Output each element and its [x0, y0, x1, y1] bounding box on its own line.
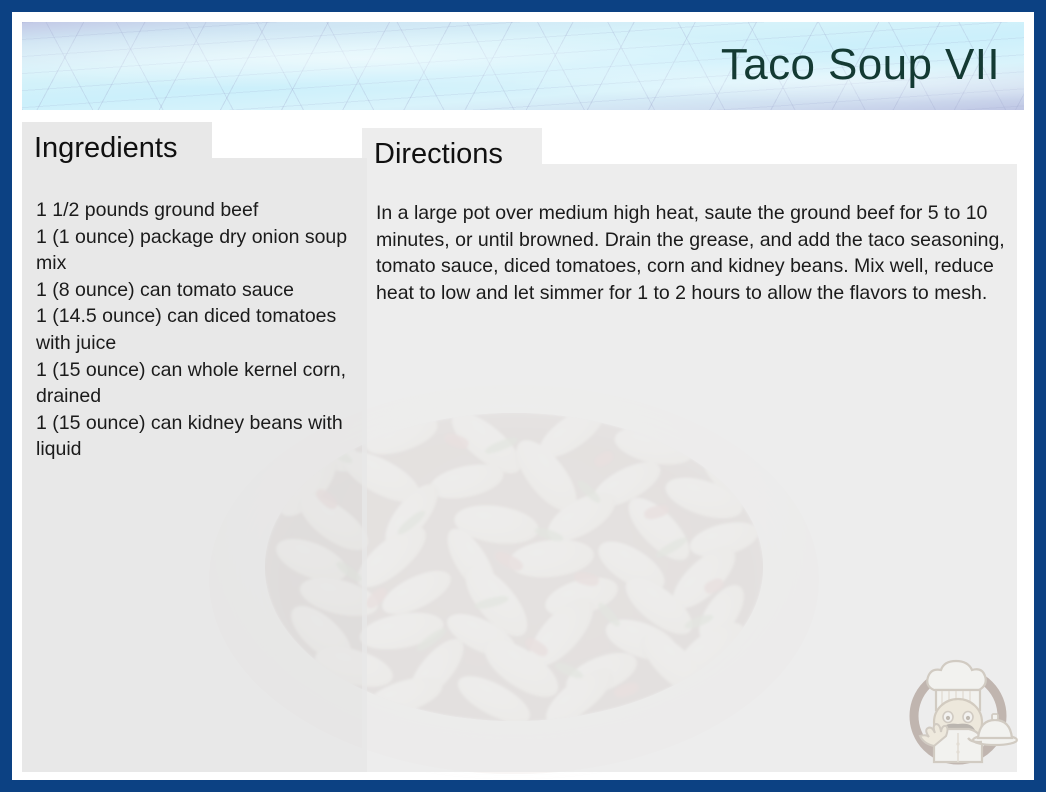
- list-item: 1 1/2 pounds ground beef: [36, 197, 366, 224]
- title-banner: Taco Soup VII: [22, 22, 1024, 110]
- directions-body: In a large pot over medium high heat, sa…: [376, 200, 1012, 306]
- directions-tab-notch: [542, 128, 1017, 164]
- list-item: 1 (15 ounce) can kidney beans with liqui…: [36, 410, 366, 463]
- list-item: 1 (1 ounce) package dry onion soup mix: [36, 224, 366, 277]
- list-item: 1 (15 ounce) can whole kernel corn, drai…: [36, 357, 366, 410]
- chef-logo-icon: [894, 644, 1022, 772]
- page-title: Taco Soup VII: [721, 40, 1000, 90]
- list-item: 1 (8 ounce) can tomato sauce: [36, 277, 366, 304]
- ingredients-list: 1 1/2 pounds ground beef 1 (1 ounce) pac…: [36, 197, 366, 463]
- ingredients-panel: Ingredients 1 1/2 pounds ground beef 1 (…: [22, 122, 367, 772]
- list-item: 1 (14.5 ounce) can diced tomatoes with j…: [36, 303, 366, 356]
- page-surface: Taco Soup VII: [12, 12, 1034, 780]
- recipe-card: Taco Soup VII: [0, 0, 1046, 792]
- ingredients-heading: Ingredients: [34, 132, 178, 165]
- ingredients-tab-notch: [212, 122, 367, 158]
- directions-heading: Directions: [374, 138, 503, 171]
